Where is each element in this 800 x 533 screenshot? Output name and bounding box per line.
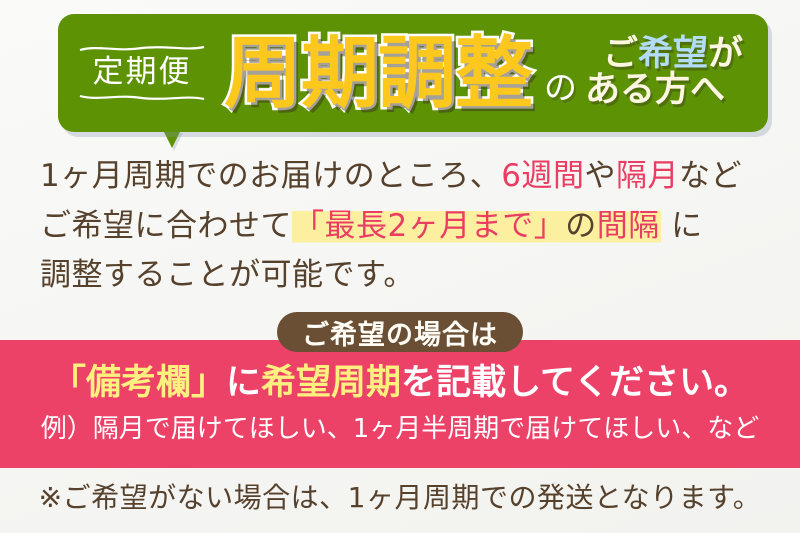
body-line1-part3: など [679, 158, 742, 194]
footer-note: ※ご希望がない場合は、1ヶ月周期での発送となります。 [0, 476, 800, 516]
body-line2-part2: に [661, 208, 703, 244]
body-line1-part1: 1ヶ月周期でのお届けのところ、 [40, 158, 501, 194]
header-subtitle-line1-part2: 希望 [638, 34, 708, 74]
highlight-band: 「備考欄」に希望周期を記載してください。 例）隔月で届けてほしい、1ヶ月半周期で… [0, 340, 800, 468]
band-example-text: 例）隔月で届けてほしい、1ヶ月半周期で届けてほしい、など [0, 408, 800, 445]
wave-rule-top-icon [78, 44, 206, 53]
wave-rule-bottom-icon [78, 93, 206, 102]
body-line2-particle: の [565, 208, 597, 244]
body-line2-highlighted: 「最長2ヶ月まで」の間隔 [292, 208, 661, 244]
body-line-1: 1ヶ月周期でのお届けのところ、6週間や隔月など [40, 152, 770, 202]
header-subtitle-line1: ご希望が [585, 37, 743, 73]
band-main-text: 「備考欄」に希望周期を記載してください。 [0, 354, 800, 405]
band-particle: に [226, 363, 261, 403]
band-remarks-field: 「備考欄」 [51, 363, 226, 403]
header-subtitle-line1-part1: ご [603, 34, 638, 74]
promo-banner: 定期便 周期調整 の ご希望が ある方へ 1ヶ月周期でのお届けのところ、6週間や… [0, 0, 800, 533]
header-subtitle-group: ご希望が ある方へ [585, 37, 743, 108]
body-line1-highlight-6weeks: 6週間 [501, 158, 584, 194]
header-section: 定期便 周期調整 の ご希望が ある方へ [0, 0, 800, 148]
status-badge: ご希望の場合は [277, 312, 523, 352]
band-desired-cycle: 希望周期 [261, 363, 401, 403]
header-bubble: 定期便 周期調整 の ご希望が ある方へ [58, 14, 768, 132]
header-title: 周期調整 [224, 35, 532, 113]
body-paragraph: 1ヶ月周期でのお届けのところ、6週間や隔月など ご希望に合わせて「最長2ヶ月まで… [40, 152, 770, 301]
body-line-3: 調整することが可能です。 [40, 251, 770, 301]
subscription-label: 定期便 [89, 53, 196, 94]
header-subtitle-line2: ある方へ [585, 73, 743, 109]
body-line2-part1: ご希望に合わせて [40, 208, 292, 244]
body-line2-interval: 間隔 [597, 208, 660, 244]
subscription-label-group: 定期便 [78, 42, 206, 105]
band-instruction: を記載してください。 [401, 363, 749, 403]
body-line1-highlight-bimonthly: 隔月 [616, 158, 679, 194]
body-line2-max-period: 「最長2ヶ月まで」 [293, 208, 565, 244]
header-particle: の [544, 71, 577, 104]
header-subtitle-line1-part3: が [708, 34, 743, 74]
body-line1-part2: や [584, 158, 616, 194]
speech-bubble-tail [163, 130, 181, 148]
body-line-2: ご希望に合わせて「最長2ヶ月まで」の間隔 に [40, 202, 770, 252]
